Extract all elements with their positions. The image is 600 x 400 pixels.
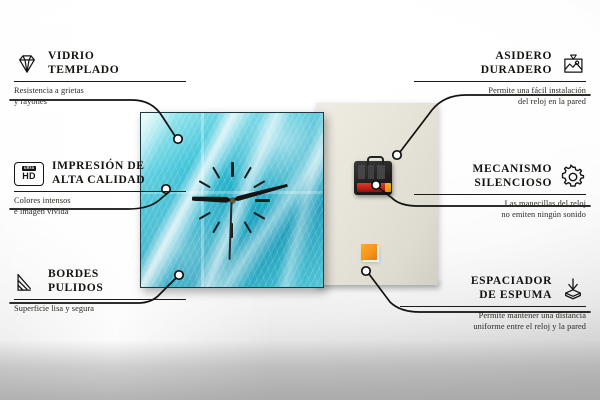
callout-title: BORDES PULIDOS <box>48 268 103 295</box>
battery-terminal <box>385 183 391 192</box>
callout-divider <box>414 81 586 82</box>
callout-subtitle: Resistencia a grietas <box>14 86 186 97</box>
callout-divider <box>414 194 586 195</box>
callout-espaciador-espuma[interactable]: ESPACIADOR DE ESPUMA Permite mantener un… <box>400 275 586 332</box>
foam-spacer <box>361 244 377 260</box>
callout-subtitle: Permite mantener una distancia <box>400 311 586 322</box>
polished-edges-icon <box>14 269 40 295</box>
callout-subtitle: Colores intensos <box>14 196 186 207</box>
infographic-canvas: VIDRIO TEMPLADO Resistencia a grietas y … <box>0 0 600 400</box>
callout-asidero-duradero[interactable]: ASIDERO DURADERO Permite una fácil insta… <box>414 50 586 107</box>
callout-subtitle: del reloj en la pared <box>414 97 586 108</box>
hd-label: HD <box>22 172 36 181</box>
callout-subtitle: Las manecillas del reloj <box>414 199 586 210</box>
callout-divider <box>14 299 186 300</box>
callout-title: MECANISMO SILENCIOSO <box>472 163 552 190</box>
picture-hanger-icon <box>560 51 586 77</box>
callout-subtitle: y rayones <box>14 97 186 108</box>
callout-divider <box>400 306 586 307</box>
ultra-hd-icon: ultra HD <box>14 162 44 186</box>
diamond-icon <box>14 51 40 77</box>
callout-header: ASIDERO DURADERO <box>414 50 586 77</box>
clock-mechanism <box>354 161 392 195</box>
gear-icon <box>560 164 586 190</box>
mechanism-housing <box>358 165 388 179</box>
callout-subtitle: no emiten ningún sonido <box>414 210 586 221</box>
callout-header: ultra HD IMPRESIÓN DE ALTA CALIDAD <box>14 160 186 187</box>
callout-subtitle: Permite una fácil instalación <box>414 86 586 97</box>
callout-header: BORDES PULIDOS <box>14 268 186 295</box>
foam-spacer-icon <box>560 276 586 302</box>
callout-subtitle: Superficie lisa y segura <box>14 304 186 315</box>
callout-subtitle: uniforme entre el reloj y la pared <box>400 322 586 333</box>
callout-title: IMPRESIÓN DE ALTA CALIDAD <box>52 160 145 187</box>
callout-title: VIDRIO TEMPLADO <box>48 50 119 77</box>
callout-header: MECANISMO SILENCIOSO <box>414 163 586 190</box>
callout-divider <box>14 191 186 192</box>
callout-header: ESPACIADOR DE ESPUMA <box>400 275 586 302</box>
callout-divider <box>14 81 186 82</box>
callout-subtitle: e imagen vívida <box>14 207 186 218</box>
callout-vidrio-templado[interactable]: VIDRIO TEMPLADO Resistencia a grietas y … <box>14 50 186 107</box>
callout-bordes-pulidos[interactable]: BORDES PULIDOS Superficie lisa y segura <box>14 268 186 315</box>
callout-mecanismo-silencioso[interactable]: MECANISMO SILENCIOSO Las manecillas del … <box>414 163 586 220</box>
callout-impresion-alta-calidad[interactable]: ultra HD IMPRESIÓN DE ALTA CALIDAD Color… <box>14 160 186 217</box>
callout-title: ASIDERO DURADERO <box>481 50 552 77</box>
floor-shadow <box>0 340 600 400</box>
callout-title: ESPACIADOR DE ESPUMA <box>471 275 552 302</box>
callout-header: VIDRIO TEMPLADO <box>14 50 186 77</box>
